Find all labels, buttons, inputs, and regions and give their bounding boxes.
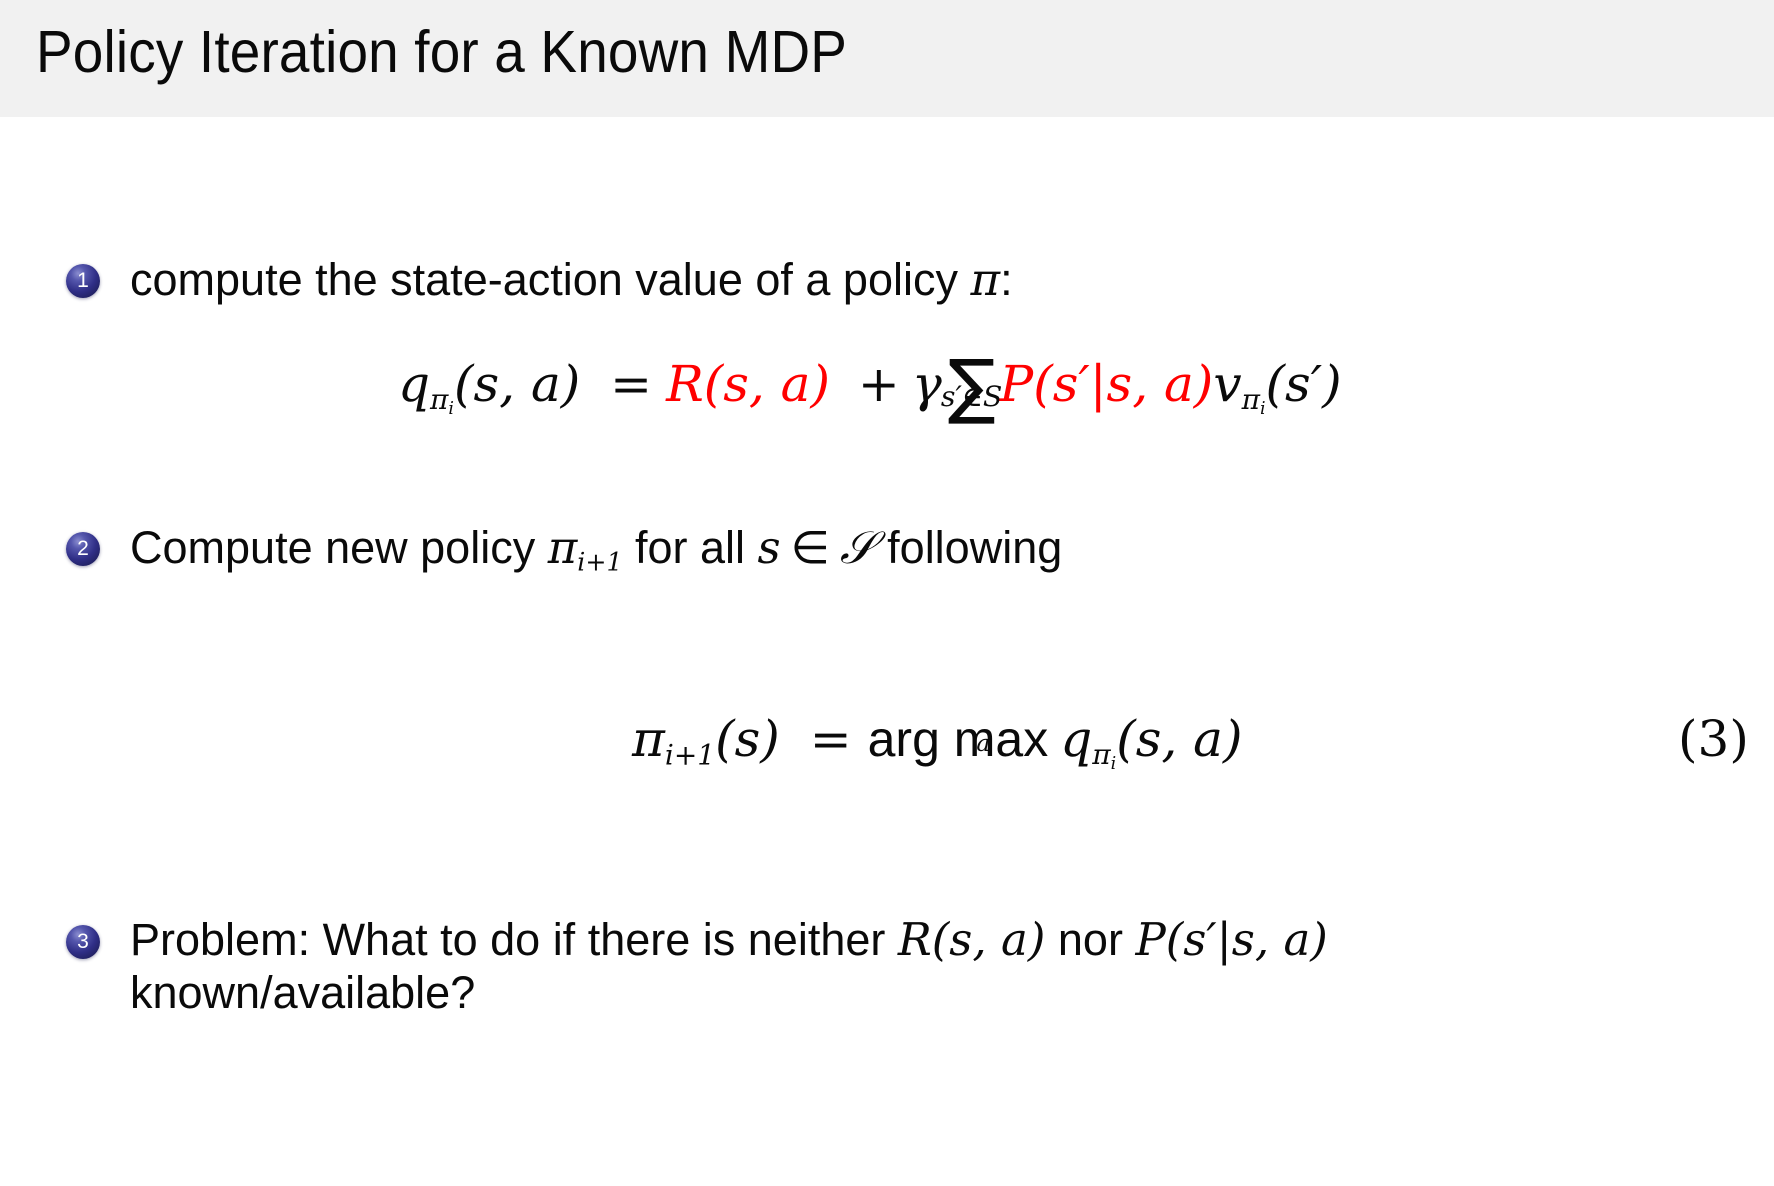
list-item-3-line1: Problem: What to do if there is neither … [130, 913, 1328, 966]
eq1-transition-term: P(s′|s, a) [1000, 355, 1214, 413]
item3-reward-term: R(s, a) [898, 913, 1046, 966]
item2-member-symbol: ∈ [791, 522, 830, 573]
bullet-marker-3: 3 [66, 925, 100, 959]
slide-content: 1 compute the state-action value of a po… [0, 117, 1774, 1186]
eq2-rhs-args: (s, a) [1116, 710, 1242, 768]
item1-text-before: compute the state-action value of a poli… [130, 254, 970, 305]
argmax-operator: arg maxa [868, 710, 1049, 768]
eq1-value-v: v [1213, 355, 1241, 413]
eq2-lhs-args: (s) [715, 710, 780, 768]
sum-limit-label: s′∈S [941, 386, 1002, 409]
page-title: Policy Iteration for a Known MDP [36, 18, 847, 86]
summation-symbol: ∑s′∈S [948, 358, 996, 415]
equation-policy-improvement: πi+1(s) =arg maxaqπi(s, a) [632, 710, 1243, 774]
list-item-1-text: compute the state-action value of a poli… [130, 253, 1013, 306]
item2-text-part2: for all [622, 522, 757, 573]
eq2-lhs-pi: π [632, 710, 665, 768]
item1-pi-symbol: π [970, 253, 1000, 306]
item2-state-symbol: s [758, 521, 781, 574]
item2-policy-symbol: π [548, 521, 578, 574]
item3-transition-term: P(s′|s, a) [1135, 913, 1327, 966]
eq1-value-sub-pi: π [1242, 383, 1260, 416]
item3-line1-middle: nor [1045, 914, 1135, 965]
eq1-plus: + [858, 355, 900, 413]
list-item-2-text: Compute new policy πi+1 for all s∈𝒮 foll… [130, 521, 1062, 577]
item3-line1-before: Problem: What to do if there is neither [130, 914, 898, 965]
item2-text-part1: Compute new policy [130, 522, 548, 573]
item2-set-symbol: 𝒮 [840, 521, 875, 574]
item2-text-part3: following [875, 522, 1063, 573]
equation-number-3: (3) [1678, 710, 1749, 768]
eq1-equals: = [610, 355, 652, 413]
eq1-value-args: (s′) [1266, 355, 1342, 413]
eq2-rhs-sub-pi: π [1092, 738, 1110, 771]
argmax-label: arg max [868, 711, 1049, 767]
eq1-lhs-q: q [398, 355, 430, 413]
list-item-3-text: Problem: What to do if there is neither … [130, 913, 1328, 1019]
list-item-3-line2: known/available? [130, 966, 1328, 1019]
eq1-lhs-args: (s, a) [454, 355, 580, 413]
eq2-lhs-subscript: i+1 [665, 738, 715, 771]
item1-text-after: : [1000, 254, 1013, 305]
item2-policy-subscript: i+1 [577, 548, 622, 577]
bullet-marker-2: 2 [66, 532, 100, 566]
eq1-gamma: γ [912, 355, 942, 413]
eq1-lhs-sub-pi: π [430, 383, 448, 416]
bullet-marker-1: 1 [66, 264, 100, 298]
eq1-reward-term: R(s, a) [666, 355, 830, 413]
eq2-equals: = [810, 710, 852, 768]
eq2-rhs-q: q [1060, 710, 1092, 768]
argmax-limit-label: a [976, 731, 990, 757]
equation-q-pi: qπi(s, a) =R(s, a) +γ∑s′∈SP(s′|s, a)vπi(… [398, 355, 1342, 419]
